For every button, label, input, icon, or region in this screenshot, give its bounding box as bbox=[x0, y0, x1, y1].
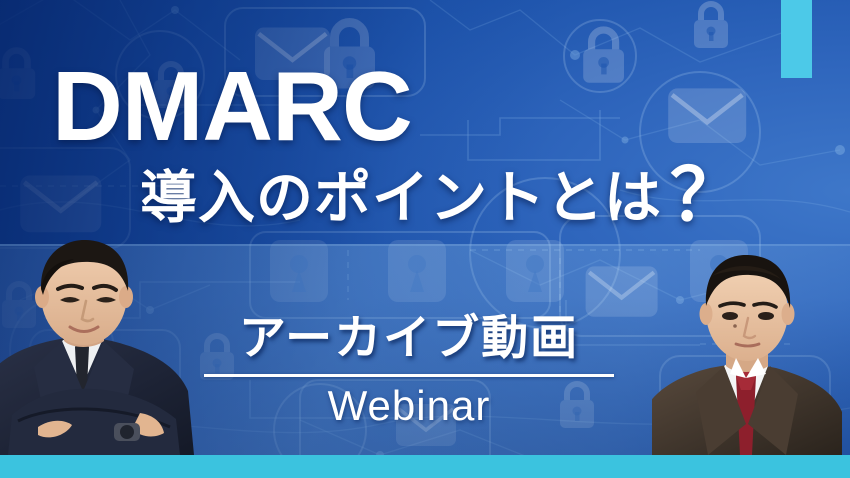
caption-japanese: アーカイブ動画 bbox=[204, 312, 614, 364]
webinar-banner: DMARC 導入のポイントとは ？ アーカイブ動画 Webinar bbox=[0, 0, 850, 478]
page-subtitle-text: 導入のポイントとは bbox=[140, 167, 662, 229]
cyan-accent-bar-bottom bbox=[0, 455, 850, 478]
caption-divider-rule bbox=[204, 374, 614, 377]
question-mark-icon: ？ bbox=[670, 165, 742, 227]
speaker-left-photo bbox=[0, 237, 209, 455]
page-title: DMARC bbox=[52, 57, 412, 155]
page-subtitle: 導入のポイントとは ？ bbox=[140, 167, 742, 229]
speaker-right-photo bbox=[652, 240, 842, 455]
caption-block: アーカイブ動画 Webinar bbox=[204, 312, 614, 431]
cyan-accent-bar-top bbox=[781, 0, 812, 78]
caption-english: Webinar bbox=[204, 381, 614, 431]
